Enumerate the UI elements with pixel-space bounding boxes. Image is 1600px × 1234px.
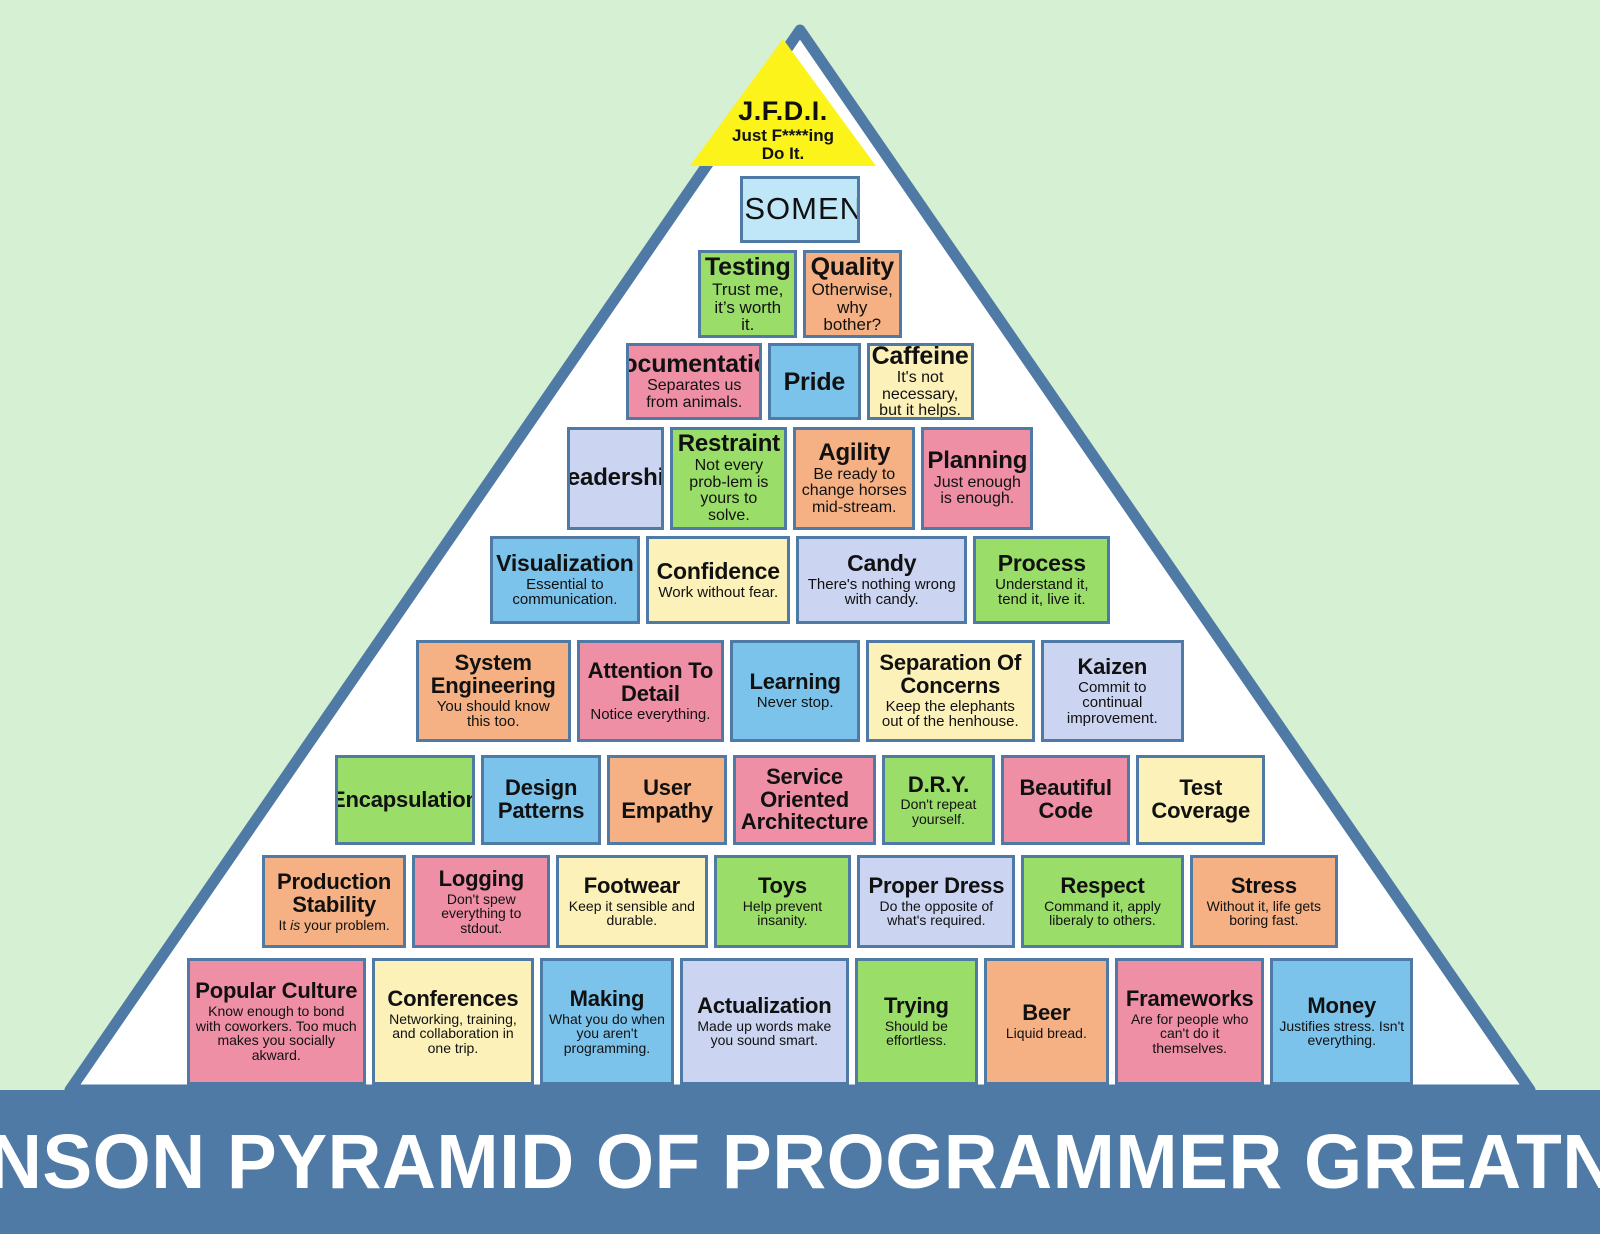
pyramid-block[interactable]: BeerLiquid bread. xyxy=(984,958,1109,1085)
block-title: Popular Culture xyxy=(195,980,357,1003)
block-subtitle: What you do when you aren't programming. xyxy=(548,1012,665,1056)
pyramid-block[interactable]: Service Oriented Architecture xyxy=(733,755,876,845)
block-subtitle: You should know this too. xyxy=(424,699,563,730)
pyramid-row-7: System EngineeringYou should know this t… xyxy=(416,640,1184,742)
pyramid-block[interactable]: VisualizationEssential to communication. xyxy=(490,536,641,624)
pyramid-block[interactable]: LoggingDon't spew everything to stdout. xyxy=(412,855,550,948)
block-title: Footwear xyxy=(584,875,680,898)
block-title: System Engineering xyxy=(424,652,563,698)
pyramid-block[interactable]: Test Coverage xyxy=(1136,755,1265,845)
pyramid-block[interactable]: FrameworksAre for people who can't do it… xyxy=(1115,958,1264,1085)
block-title: Making xyxy=(570,988,645,1011)
block-title: Respect xyxy=(1060,875,1144,898)
pyramid-block[interactable]: TestingTrust me, it’s worth it. xyxy=(698,250,797,338)
pyramid-block[interactable]: KaizenCommit to continual improvement. xyxy=(1041,640,1185,742)
pyramid-block[interactable]: User Empathy xyxy=(607,755,727,845)
pyramid-block[interactable]: StressWithout it, life gets boring fast. xyxy=(1190,855,1339,948)
block-subtitle: Work without fear. xyxy=(658,585,778,601)
pyramid-block[interactable]: ActualizationMade up words make you soun… xyxy=(680,958,849,1085)
block-title: Money xyxy=(1307,995,1376,1018)
block-subtitle: Should be effortless. xyxy=(863,1019,970,1048)
block-title: Conferences xyxy=(387,988,518,1011)
pyramid-block[interactable]: Beautiful Code xyxy=(1001,755,1130,845)
block-title: Planning xyxy=(927,449,1027,474)
block-subtitle: Be ready to change horses mid-stream. xyxy=(801,467,907,517)
block-subtitle: Keep it sensible and durable. xyxy=(564,899,699,928)
block-subtitle: It's not necessary, but it helps. xyxy=(875,370,966,420)
pyramid-block[interactable]: Pride xyxy=(768,343,861,420)
pyramid-block[interactable]: System EngineeringYou should know this t… xyxy=(416,640,571,742)
block-title: Quality xyxy=(811,254,894,280)
pyramid-block[interactable]: MakingWhat you do when you aren't progra… xyxy=(540,958,673,1085)
block-subtitle: Just enough is enough. xyxy=(929,475,1025,508)
block-subtitle: Commit to continual improvement. xyxy=(1049,680,1177,727)
pyramid-block[interactable]: Encapsulation xyxy=(335,755,475,845)
title-banner: JOHNSON PYRAMID OF PROGRAMMER GREATNESS xyxy=(0,1090,1600,1234)
block-title: Candy xyxy=(847,552,916,576)
pyramid-block[interactable]: CaffeineIt's not necessary, but it helps… xyxy=(867,343,974,420)
pyramid-block[interactable]: ConfidenceWork without fear. xyxy=(646,536,790,624)
pyramid-block[interactable]: QualityOtherwise, why bother? xyxy=(803,250,902,338)
pyramid-block[interactable]: Design Patterns xyxy=(481,755,601,845)
block-title: Stress xyxy=(1231,875,1297,898)
block-title: Trying xyxy=(884,995,949,1018)
pyramid-block[interactable]: MoneyJustifies stress. Isn't everything. xyxy=(1270,958,1413,1085)
pyramid-block[interactable]: Separation Of ConcernsKeep the elephants… xyxy=(866,640,1035,742)
pyramid-block[interactable]: Attention To DetailNotice everything. xyxy=(577,640,725,742)
pyramid-block[interactable]: LearningNever stop. xyxy=(730,640,860,742)
block-subtitle: Without it, life gets boring fast. xyxy=(1198,899,1331,928)
block-title: Beer xyxy=(1022,1002,1070,1025)
block-title: Toys xyxy=(758,875,807,898)
pyramid-block[interactable]: Production StabilityIt is your problem. xyxy=(262,855,407,948)
pyramid-block[interactable]: Popular CultureKnow enough to bond with … xyxy=(187,958,366,1085)
block-subtitle: Justifies stress. Isn't everything. xyxy=(1278,1019,1405,1048)
block-title: AWESOMENESS xyxy=(740,193,860,225)
pyramid-rows: AWESOMENESSTestingTrust me, it’s worth i… xyxy=(0,0,1600,1090)
block-title: Learning xyxy=(749,671,840,694)
block-subtitle: Do the opposite of what's required. xyxy=(865,899,1007,928)
block-title: Encapsulation xyxy=(335,789,475,812)
block-title: Kaizen xyxy=(1077,656,1147,679)
pyramid-row-4: DocumentationSeparates us from animals.P… xyxy=(626,343,973,420)
block-subtitle: Don't spew everything to stdout. xyxy=(420,892,542,936)
pyramid-block[interactable]: D.R.Y.Don't repeat yourself. xyxy=(882,755,995,845)
block-title: Test Coverage xyxy=(1144,777,1257,823)
pyramid-row-10: Popular CultureKnow enough to bond with … xyxy=(187,958,1413,1085)
block-title: Restraint xyxy=(678,432,780,457)
pyramid-block[interactable]: Proper DressDo the opposite of what's re… xyxy=(857,855,1015,948)
block-title: Pride xyxy=(784,369,846,395)
block-title: Proper Dress xyxy=(868,875,1004,898)
pyramid-row-6: VisualizationEssential to communication.… xyxy=(490,536,1111,624)
block-title: Logging xyxy=(439,868,524,891)
pyramid-block[interactable]: CandyThere's nothing wrong with candy. xyxy=(796,536,967,624)
pyramid-row-8: EncapsulationDesign PatternsUser Empathy… xyxy=(335,755,1266,845)
block-title: Actualization xyxy=(697,995,831,1018)
pyramid-row-5: LeadershipRestraintNot every prob-lem is… xyxy=(567,427,1034,530)
pyramid-row-2: AWESOMENESS xyxy=(740,176,860,243)
block-subtitle: Are for people who can't do it themselve… xyxy=(1123,1012,1256,1056)
block-title: Attention To Detail xyxy=(585,660,717,706)
block-subtitle: Liquid bread. xyxy=(1006,1026,1087,1041)
pyramid-block[interactable]: ProcessUnderstand it, tend it, live it. xyxy=(973,536,1110,624)
pyramid-block[interactable]: DocumentationSeparates us from animals. xyxy=(626,343,762,420)
pyramid-block[interactable]: TryingShould be effortless. xyxy=(855,958,978,1085)
block-title: User Empathy xyxy=(615,777,719,823)
block-title: Caffeine xyxy=(872,343,969,369)
pyramid-block[interactable]: FootwearKeep it sensible and durable. xyxy=(556,855,707,948)
block-title: Service Oriented Architecture xyxy=(741,766,868,835)
pyramid-block[interactable]: PlanningJust enough is enough. xyxy=(921,427,1033,530)
block-subtitle: Otherwise, why bother? xyxy=(811,281,894,334)
block-subtitle: It is your problem. xyxy=(278,918,389,933)
block-title: Documentation xyxy=(626,351,762,377)
block-subtitle: Command it, apply liberaly to others. xyxy=(1029,899,1175,928)
pyramid-block[interactable]: ConferencesNetworking, training, and col… xyxy=(372,958,535,1085)
block-title: Testing xyxy=(705,254,791,280)
banner-title: JOHNSON PYRAMID OF PROGRAMMER GREATNESS xyxy=(0,1118,1600,1207)
block-subtitle: Made up words make you sound smart. xyxy=(688,1019,841,1048)
block-title: D.R.Y. xyxy=(908,774,969,797)
block-subtitle: Know enough to bond with coworkers. Too … xyxy=(195,1004,358,1062)
block-title: Separation Of Concerns xyxy=(874,652,1027,698)
block-title: Process xyxy=(998,552,1086,576)
block-subtitle: Keep the elephants out of the henhouse. xyxy=(874,699,1027,730)
pyramid-infographic: J.F.D.I. Just F****ing Do It. AWESOMENES… xyxy=(0,0,1600,1234)
block-title: Visualization xyxy=(496,552,634,576)
pyramid-block[interactable]: RestraintNot every prob-lem is yours to … xyxy=(670,427,787,530)
pyramid-block[interactable]: ToysHelp prevent insanity. xyxy=(714,855,852,948)
pyramid-block[interactable]: AgilityBe ready to change horses mid-str… xyxy=(793,427,915,530)
block-subtitle: Don't repeat yourself. xyxy=(890,797,987,826)
block-title: Frameworks xyxy=(1126,988,1254,1011)
pyramid-row-9: Production StabilityIt is your problem.L… xyxy=(262,855,1338,948)
pyramid-block[interactable]: AWESOMENESS xyxy=(740,176,860,243)
block-subtitle: Essential to communication. xyxy=(498,577,633,608)
block-title: Production Stability xyxy=(270,871,399,917)
block-title: Leadership xyxy=(567,466,665,491)
block-title: Confidence xyxy=(657,560,780,584)
block-subtitle: Notice everything. xyxy=(590,707,710,723)
block-subtitle: Networking, training, and collaboration … xyxy=(380,1012,527,1056)
block-subtitle: Help prevent insanity. xyxy=(722,899,844,928)
pyramid-row-3: TestingTrust me, it’s worth it.QualityOt… xyxy=(698,250,901,338)
pyramid-block[interactable]: RespectCommand it, apply liberaly to oth… xyxy=(1021,855,1183,948)
block-title: Design Patterns xyxy=(489,777,593,823)
block-subtitle: Separates us from animals. xyxy=(634,378,754,411)
block-subtitle: Never stop. xyxy=(757,695,834,711)
block-subtitle: Trust me, it’s worth it. xyxy=(706,281,789,334)
block-subtitle: Not every prob-lem is yours to solve. xyxy=(678,458,779,525)
block-subtitle: There's nothing wrong with candy. xyxy=(804,577,959,608)
block-title: Beautiful Code xyxy=(1009,777,1122,823)
block-title: Agility xyxy=(818,441,890,466)
pyramid-block[interactable]: Leadership xyxy=(567,427,665,530)
block-subtitle: Understand it, tend it, live it. xyxy=(981,577,1102,608)
